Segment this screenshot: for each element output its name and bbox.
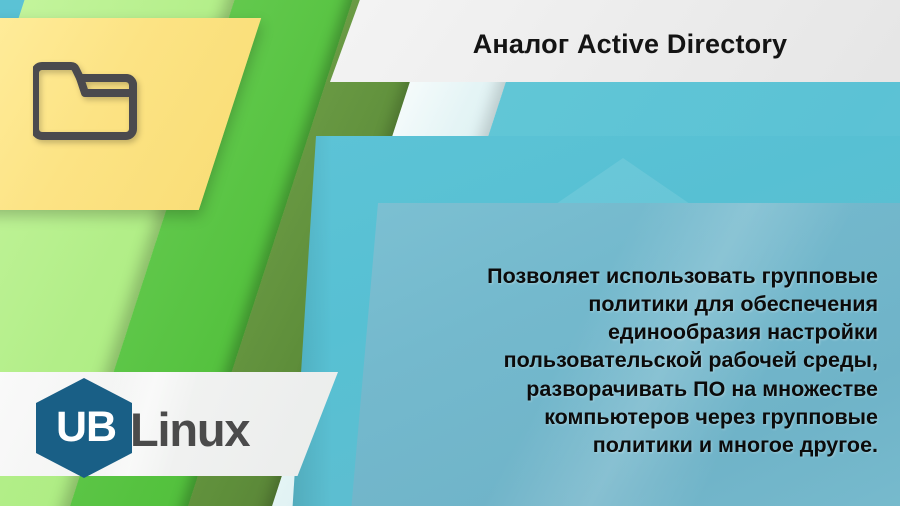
page-title: Аналог Active Directory: [330, 0, 900, 82]
folder-icon: [33, 52, 143, 144]
logo-wordmark: Linux: [130, 406, 249, 453]
logo-mark-text: UB: [56, 406, 116, 449]
brand-logo: UB Linux: [36, 378, 249, 478]
slide-canvas: Аналог Active Directory Позволяет исполь…: [0, 0, 900, 506]
body-paragraph: Позволяет использовать групповые политик…: [440, 262, 890, 459]
hexagon-logo-icon: UB: [36, 378, 132, 478]
